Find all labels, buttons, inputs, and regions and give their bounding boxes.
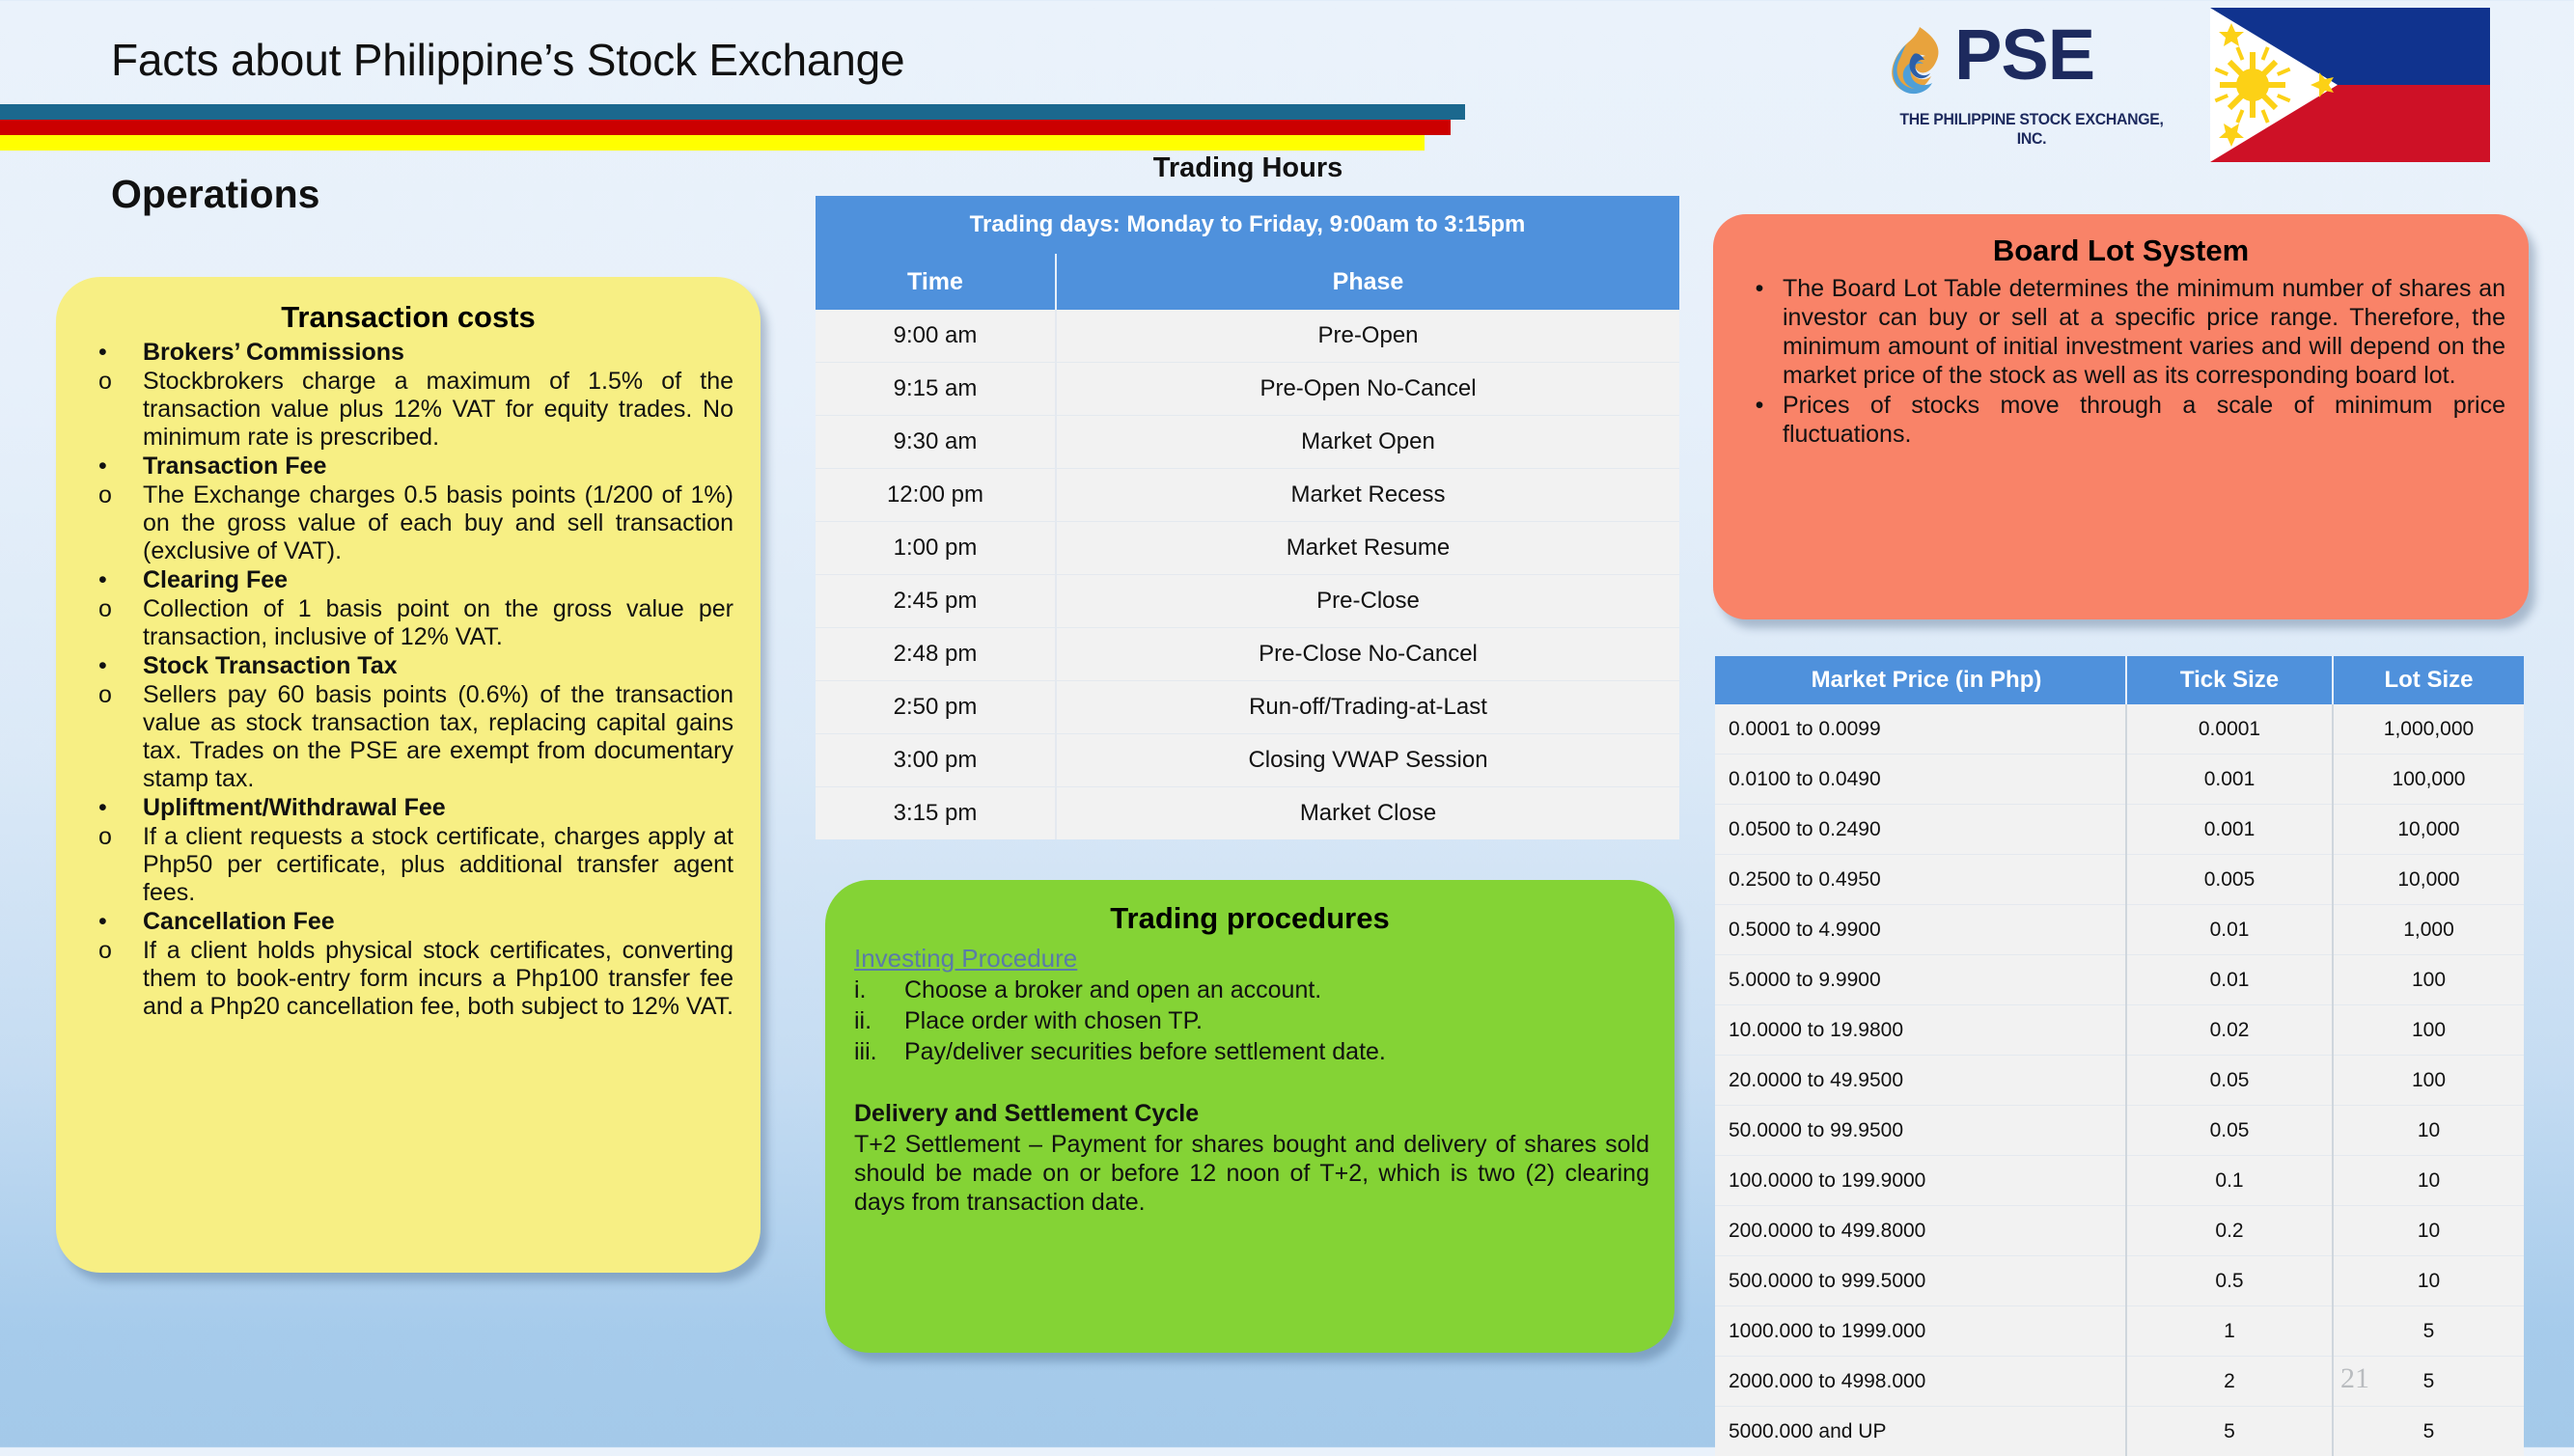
table-row: 2:45 pmPre-Close	[816, 575, 1679, 628]
cell-tick-size: 5	[2126, 1407, 2333, 1456]
cell-phase: Market Close	[1056, 787, 1679, 840]
transaction-cost-item: •Cancellation Fee	[95, 908, 733, 936]
transaction-cost-item: •Stock Transaction Tax	[95, 652, 733, 680]
transaction-costs-list: •Brokers’ CommissionsoStockbrokers charg…	[56, 339, 761, 1021]
transaction-cost-item: oThe Exchange charges 0.5 basis points (…	[95, 481, 733, 565]
table-row: 2:50 pmRun-off/Trading-at-Last	[816, 681, 1679, 734]
investing-procedure-steps: i.Choose a broker and open an account.ii…	[854, 975, 1649, 1066]
cell-time: 2:45 pm	[816, 575, 1056, 628]
cell-tick-size: 2	[2126, 1357, 2333, 1407]
list-item-text: Brokers’ Commissions	[143, 339, 733, 367]
page-title: Facts about Philippine’s Stock Exchange	[111, 34, 904, 86]
list-item-text: Prices of stocks move through a scale of…	[1783, 391, 2505, 449]
table-row: 20.0000 to 49.95000.05100	[1715, 1056, 2524, 1106]
table-row: 0.5000 to 4.99000.011,000	[1715, 905, 2524, 955]
table-row: 10.0000 to 19.98000.02100	[1715, 1005, 2524, 1056]
procedure-step: i.Choose a broker and open an account.	[854, 975, 1649, 1004]
list-item-text: Stock Transaction Tax	[143, 652, 733, 680]
cell-tick-size: 0.0001	[2126, 704, 2333, 755]
cell-market-price: 1000.000 to 1999.000	[1715, 1306, 2126, 1357]
list-marker: •	[95, 794, 143, 822]
column-header-lot-size: Lot Size	[2333, 656, 2524, 704]
cell-lot-size: 100	[2333, 955, 2524, 1005]
cell-lot-size: 100	[2333, 1056, 2524, 1106]
list-marker: iii.	[854, 1037, 904, 1066]
table-row: 0.0500 to 0.24900.00110,000	[1715, 805, 2524, 855]
list-marker: i.	[854, 975, 904, 1004]
list-item-text: Collection of 1 basis point on the gross…	[143, 595, 733, 651]
table-row: 3:00 pmClosing VWAP Session	[816, 734, 1679, 787]
board-lot-bullet: •The Board Lot Table determines the mini…	[1736, 274, 2505, 390]
table-row: 500.0000 to 999.50000.510	[1715, 1256, 2524, 1306]
settlement-cycle-text: T+2 Settlement – Payment for shares boug…	[854, 1130, 1649, 1217]
page-number: 21	[2340, 1362, 2369, 1395]
list-item-text: Place order with chosen TP.	[904, 1006, 1203, 1035]
slide: Facts about Philippine’s Stock Exchange …	[0, 0, 2574, 1447]
transaction-cost-item: oCollection of 1 basis point on the gros…	[95, 595, 733, 651]
list-marker: •	[1736, 391, 1783, 449]
board-lot-bullet-list: •The Board Lot Table determines the mini…	[1713, 274, 2529, 449]
cell-market-price: 0.5000 to 4.9900	[1715, 905, 2126, 955]
procedure-step: iii.Pay/deliver securities before settle…	[854, 1037, 1649, 1066]
list-item-text: Cancellation Fee	[143, 908, 733, 936]
cell-time: 2:50 pm	[816, 681, 1056, 734]
trading-hours-banner: Trading days: Monday to Friday, 9:00am t…	[816, 196, 1679, 254]
cell-market-price: 0.0500 to 0.2490	[1715, 805, 2126, 855]
transaction-cost-item: •Transaction Fee	[95, 453, 733, 481]
list-marker: o	[95, 937, 143, 965]
cell-time: 9:30 am	[816, 416, 1056, 469]
list-marker: ii.	[854, 1006, 904, 1035]
cell-market-price: 0.0100 to 0.0490	[1715, 755, 2126, 805]
list-marker: •	[95, 652, 143, 680]
cell-lot-size: 5	[2333, 1407, 2524, 1456]
cell-tick-size: 0.01	[2126, 955, 2333, 1005]
column-header-phase: Phase	[1056, 254, 1679, 310]
cell-lot-size: 1,000,000	[2333, 704, 2524, 755]
cell-lot-size: 100	[2333, 1005, 2524, 1056]
transaction-cost-item: oIf a client holds physical stock certif…	[95, 937, 733, 1021]
list-item-text: Upliftment/Withdrawal Fee	[143, 794, 733, 822]
cell-market-price: 20.0000 to 49.9500	[1715, 1056, 2126, 1106]
board-lot-bullet: •Prices of stocks move through a scale o…	[1736, 391, 2505, 449]
procedure-step: ii.Place order with chosen TP.	[854, 1006, 1649, 1035]
list-marker: •	[95, 566, 143, 594]
cell-market-price: 5000.000 and UP	[1715, 1407, 2126, 1456]
list-item-text: Transaction Fee	[143, 453, 733, 481]
cell-market-price: 0.0001 to 0.0099	[1715, 704, 2126, 755]
cell-lot-size: 100,000	[2333, 755, 2524, 805]
cell-time: 9:15 am	[816, 363, 1056, 416]
settlement-cycle-title: Delivery and Settlement Cycle	[854, 1099, 1649, 1128]
cell-time: 12:00 pm	[816, 469, 1056, 522]
cell-phase: Market Open	[1056, 416, 1679, 469]
transaction-costs-card: Transaction costs •Brokers’ Commissionso…	[56, 277, 761, 1273]
cell-tick-size: 0.05	[2126, 1106, 2333, 1156]
column-header-tick-size: Tick Size	[2126, 656, 2333, 704]
cell-lot-size: 1,000	[2333, 905, 2524, 955]
cell-lot-size: 10	[2333, 1106, 2524, 1156]
board-lot-table: Market Price (in Php) Tick Size Lot Size…	[1715, 656, 2524, 1456]
trading-procedures-card: Trading procedures Investing Procedure i…	[825, 880, 1674, 1353]
cell-tick-size: 0.05	[2126, 1056, 2333, 1106]
table-row: 2:48 pmPre-Close No-Cancel	[816, 628, 1679, 681]
pse-flame-icon	[1887, 25, 1952, 104]
cell-market-price: 10.0000 to 19.9800	[1715, 1005, 2126, 1056]
transaction-costs-title: Transaction costs	[56, 300, 761, 335]
table-row: 100.0000 to 199.90000.110	[1715, 1156, 2524, 1206]
investing-procedure-link[interactable]: Investing Procedure	[854, 944, 1649, 974]
board-lot-system-title: Board Lot System	[1713, 234, 2529, 268]
cell-lot-size: 10	[2333, 1156, 2524, 1206]
cell-phase: Pre-Open	[1056, 310, 1679, 363]
list-item-text: Pay/deliver securities before settlement…	[904, 1037, 1386, 1066]
list-marker: o	[95, 481, 143, 509]
board-lot-system-card: Board Lot System •The Board Lot Table de…	[1713, 214, 2529, 619]
table-row: 5000.000 and UP55	[1715, 1407, 2524, 1456]
cell-time: 9:00 am	[816, 310, 1056, 363]
transaction-cost-item: oIf a client requests a stock certificat…	[95, 823, 733, 907]
list-item-text: If a client requests a stock certificate…	[143, 823, 733, 907]
cell-market-price: 200.0000 to 499.8000	[1715, 1206, 2126, 1256]
cell-tick-size: 1	[2126, 1306, 2333, 1357]
table-row: 9:15 amPre-Open No-Cancel	[816, 363, 1679, 416]
list-marker: •	[95, 908, 143, 936]
transaction-cost-item: oStockbrokers charge a maximum of 1.5% o…	[95, 368, 733, 452]
philippine-flag-icon	[2210, 8, 2490, 162]
table-row: 12:00 pmMarket Recess	[816, 469, 1679, 522]
trading-procedures-title: Trading procedures	[825, 901, 1674, 936]
cell-lot-size: 10	[2333, 1206, 2524, 1256]
cell-tick-size: 0.2	[2126, 1206, 2333, 1256]
cell-tick-size: 0.01	[2126, 905, 2333, 955]
pse-logo: PSE THE PHILIPPINE STOCK EXCHANGE, INC.	[1887, 17, 2176, 133]
cell-market-price: 2000.000 to 4998.000	[1715, 1357, 2126, 1407]
cell-phase: Market Resume	[1056, 522, 1679, 575]
list-item-text: Clearing Fee	[143, 566, 733, 594]
accent-bar-teal	[0, 104, 1465, 120]
cell-lot-size: 10,000	[2333, 855, 2524, 905]
pse-wordmark: PSE	[1954, 19, 2094, 91]
cell-market-price: 50.0000 to 99.9500	[1715, 1106, 2126, 1156]
cell-time: 2:48 pm	[816, 628, 1056, 681]
cell-phase: Run-off/Trading-at-Last	[1056, 681, 1679, 734]
cell-phase: Pre-Close No-Cancel	[1056, 628, 1679, 681]
table-row: 5.0000 to 9.99000.01100	[1715, 955, 2524, 1005]
accent-bar-red	[0, 120, 1451, 135]
table-row: 0.2500 to 0.49500.00510,000	[1715, 855, 2524, 905]
list-marker: o	[95, 681, 143, 709]
table-row: 2000.000 to 4998.00025	[1715, 1357, 2524, 1407]
cell-tick-size: 0.5	[2126, 1256, 2333, 1306]
table-row: 0.0001 to 0.00990.00011,000,000	[1715, 704, 2524, 755]
cell-tick-size: 0.001	[2126, 805, 2333, 855]
pse-logo-subtitle: THE PHILIPPINE STOCK EXCHANGE, INC.	[1898, 110, 2164, 149]
column-header-market-price: Market Price (in Php)	[1715, 656, 2126, 704]
table-row: 3:15 pmMarket Close	[816, 787, 1679, 840]
cell-time: 3:15 pm	[816, 787, 1056, 840]
list-marker: •	[95, 339, 143, 367]
trading-hours-table: Trading days: Monday to Friday, 9:00am t…	[816, 196, 1679, 839]
list-item-text: The Board Lot Table determines the minim…	[1783, 274, 2505, 390]
cell-time: 1:00 pm	[816, 522, 1056, 575]
cell-lot-size: 5	[2333, 1306, 2524, 1357]
cell-market-price: 100.0000 to 199.9000	[1715, 1156, 2126, 1206]
table-row: 9:00 amPre-Open	[816, 310, 1679, 363]
cell-lot-size: 10	[2333, 1256, 2524, 1306]
list-item-text: Sellers pay 60 basis points (0.6%) of th…	[143, 681, 733, 793]
cell-phase: Pre-Open No-Cancel	[1056, 363, 1679, 416]
cell-phase: Market Recess	[1056, 469, 1679, 522]
cell-lot-size: 10,000	[2333, 805, 2524, 855]
list-item-text: Stockbrokers charge a maximum of 1.5% of…	[143, 368, 733, 452]
table-row: 200.0000 to 499.80000.210	[1715, 1206, 2524, 1256]
cell-market-price: 0.2500 to 0.4950	[1715, 855, 2126, 905]
table-row: 1:00 pmMarket Resume	[816, 522, 1679, 575]
cell-phase: Closing VWAP Session	[1056, 734, 1679, 787]
transaction-cost-item: •Upliftment/Withdrawal Fee	[95, 794, 733, 822]
section-heading: Operations	[111, 172, 319, 217]
transaction-cost-item: •Clearing Fee	[95, 566, 733, 594]
cell-phase: Pre-Close	[1056, 575, 1679, 628]
transaction-cost-item: oSellers pay 60 basis points (0.6%) of t…	[95, 681, 733, 793]
cell-time: 3:00 pm	[816, 734, 1056, 787]
transaction-cost-item: •Brokers’ Commissions	[95, 339, 733, 367]
cell-market-price: 500.0000 to 999.5000	[1715, 1256, 2126, 1306]
cell-market-price: 5.0000 to 9.9900	[1715, 955, 2126, 1005]
list-item-text: Choose a broker and open an account.	[904, 975, 1321, 1004]
table-row: 9:30 amMarket Open	[816, 416, 1679, 469]
accent-bar-yellow	[0, 135, 1425, 151]
cell-tick-size: 0.02	[2126, 1005, 2333, 1056]
trading-hours-title: Trading Hours	[814, 152, 1682, 184]
table-row: 0.0100 to 0.04900.001100,000	[1715, 755, 2524, 805]
column-header-time: Time	[816, 254, 1056, 310]
list-marker: o	[95, 595, 143, 623]
table-row: 1000.000 to 1999.00015	[1715, 1306, 2524, 1357]
cell-tick-size: 0.005	[2126, 855, 2333, 905]
list-marker: •	[95, 453, 143, 481]
cell-tick-size: 0.001	[2126, 755, 2333, 805]
list-item-text: If a client holds physical stock certifi…	[143, 937, 733, 1021]
list-marker: •	[1736, 274, 1783, 390]
list-marker: o	[95, 368, 143, 396]
cell-tick-size: 0.1	[2126, 1156, 2333, 1206]
list-item-text: The Exchange charges 0.5 basis points (1…	[143, 481, 733, 565]
list-marker: o	[95, 823, 143, 851]
table-row: 50.0000 to 99.95000.0510	[1715, 1106, 2524, 1156]
